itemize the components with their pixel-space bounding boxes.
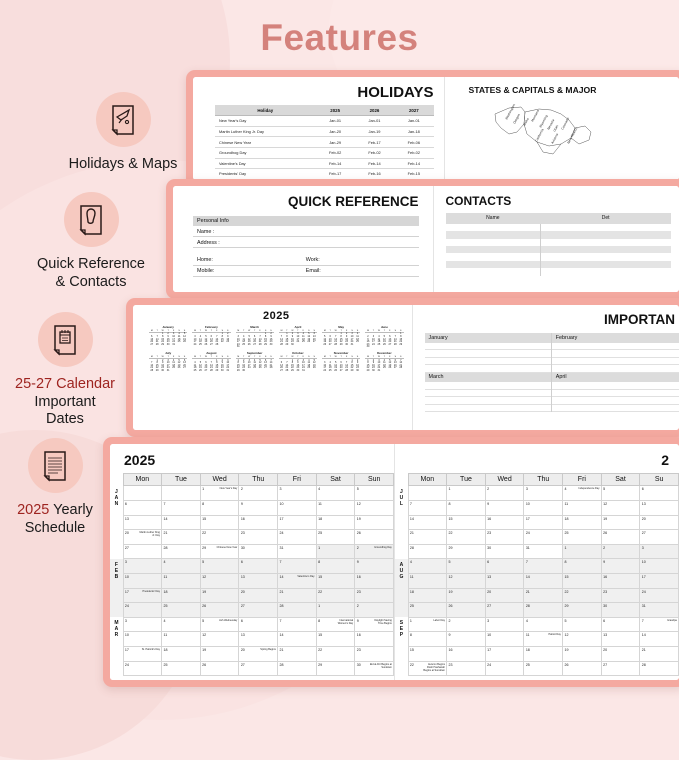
- schedule-day-cell[interactable]: 9Daylight Saving Time Begins: [355, 617, 394, 632]
- day-number: 20: [487, 590, 491, 594]
- schedule-day-cell[interactable]: 4: [316, 486, 355, 501]
- column-header: Sat: [316, 474, 355, 486]
- day-number: 6: [241, 619, 243, 623]
- table-cell: Presidents' Day: [215, 169, 316, 180]
- field-label: Mobile:: [197, 268, 306, 274]
- schedule-day-cell[interactable]: 17: [485, 646, 524, 661]
- schedule-day-cell[interactable]: 2: [239, 486, 278, 501]
- schedule-week-row: 21222324252627: [395, 530, 679, 545]
- schedule-day-cell[interactable]: 8: [563, 559, 602, 574]
- schedule-day-cell[interactable]: 29: [563, 603, 602, 618]
- schedule-day-cell[interactable]: 6: [239, 559, 278, 574]
- schedule-day-cell[interactable]: 20Spring Begins: [239, 646, 278, 661]
- schedule-day-cell[interactable]: 26: [200, 661, 239, 676]
- schedule-day-cell[interactable]: 22: [563, 588, 602, 603]
- table-cell: Jan-29: [316, 137, 355, 148]
- schedule-day-cell[interactable]: 12: [355, 500, 394, 515]
- schedule-day-cell[interactable]: 3: [485, 617, 524, 632]
- schedule-day-cell[interactable]: 15: [200, 515, 239, 530]
- schedule-day-cell[interactable]: 8: [447, 500, 486, 515]
- schedule-day-cell[interactable]: 19: [200, 588, 239, 603]
- schedule-day-cell[interactable]: 13: [601, 632, 640, 647]
- table-row[interactable]: [446, 239, 672, 246]
- schedule-day-cell[interactable]: 20: [640, 515, 679, 530]
- mini-dow-row: MTWTFSS: [322, 356, 360, 359]
- schedule-day-cell[interactable]: 7: [408, 500, 447, 515]
- table-row[interactable]: [446, 231, 672, 238]
- schedule-day-cell[interactable]: 23: [447, 661, 486, 676]
- schedule-day-cell[interactable]: 5: [447, 559, 486, 574]
- schedule-week-row: 25262728293031: [395, 603, 679, 618]
- write-line[interactable]: [425, 343, 551, 351]
- day-number: 17: [279, 517, 283, 521]
- schedule-day-cell[interactable]: 15: [408, 646, 447, 661]
- write-line[interactable]: [552, 343, 679, 351]
- table-cell[interactable]: [446, 231, 541, 238]
- table-row: Valentine's DayFeb-14Feb-14Feb-14: [215, 158, 434, 169]
- write-line[interactable]: [552, 358, 679, 366]
- schedule-day-cell[interactable]: 30: [601, 603, 640, 618]
- schedule-day-cell[interactable]: 3: [123, 617, 162, 632]
- table-cell[interactable]: [446, 261, 541, 268]
- schedule-day-cell[interactable]: 7: [162, 500, 201, 515]
- day-number: 4: [410, 560, 412, 564]
- schedule-day-cell[interactable]: 13: [640, 500, 679, 515]
- table-cell[interactable]: [540, 231, 671, 238]
- schedule-day-cell[interactable]: 1: [447, 486, 486, 501]
- schedule-day-cell[interactable]: 19: [601, 515, 640, 530]
- schedule-day-cell[interactable]: 11Patriot Day: [524, 632, 563, 647]
- day-number: 19: [564, 648, 568, 652]
- day-number: 15: [410, 648, 414, 652]
- schedule-day-cell[interactable]: 16: [601, 573, 640, 588]
- schedule-day-cell[interactable]: 23: [601, 588, 640, 603]
- schedule-day-cell[interactable]: 14: [162, 515, 201, 530]
- quick-reference-row[interactable]: Name :: [193, 226, 419, 237]
- schedule-day-cell[interactable]: 3: [278, 486, 317, 501]
- schedule-day-cell[interactable]: 22: [316, 588, 355, 603]
- schedule-day-cell[interactable]: 19: [563, 646, 602, 661]
- schedule-day-cell[interactable]: 19: [447, 588, 486, 603]
- svg-text:Colorado: Colorado: [560, 117, 570, 131]
- day-number: 16: [487, 517, 491, 521]
- day-number: 21: [410, 531, 414, 535]
- schedule-week-row: 22Autumn Begins Rosh Hashanah Begins at …: [395, 661, 679, 676]
- table-cell: Jan-01: [355, 116, 394, 127]
- day-number: 17: [125, 590, 129, 594]
- schedule-day-cell[interactable]: 28: [162, 544, 201, 559]
- schedule-day-cell[interactable]: 7Grandpa: [640, 617, 679, 632]
- schedule-day-cell[interactable]: 8International Women's Day: [316, 617, 355, 632]
- schedule-day-cell[interactable]: 24: [640, 588, 679, 603]
- schedule-day-cell[interactable]: 27: [239, 603, 278, 618]
- day-number: 3: [279, 487, 281, 491]
- day-number: 14: [164, 517, 168, 521]
- schedule-day-cell[interactable]: 30: [239, 544, 278, 559]
- day-number: 2: [357, 604, 359, 608]
- day-number: 21: [642, 648, 646, 652]
- schedule-day-cell[interactable]: 23: [355, 646, 394, 661]
- schedule-day-cell[interactable]: 2: [485, 486, 524, 501]
- holiday-note: Spring Begins: [260, 648, 276, 651]
- table-cell[interactable]: [446, 239, 541, 246]
- schedule-day-cell[interactable]: 5: [355, 486, 394, 501]
- day-number: 11: [410, 575, 414, 579]
- schedule-day-cell[interactable]: 25: [563, 530, 602, 545]
- month-label: JUL: [395, 486, 408, 559]
- table-cell[interactable]: [446, 224, 541, 231]
- schedule-week-row: 78910111213: [395, 500, 679, 515]
- schedule-day-cell[interactable]: 24: [278, 530, 317, 545]
- schedule-day-cell[interactable]: 16: [485, 515, 524, 530]
- day-number: 6: [642, 487, 644, 491]
- write-line[interactable]: [425, 390, 551, 398]
- schedule-day-cell[interactable]: 29: [316, 661, 355, 676]
- schedule-day-cell[interactable]: 25: [316, 530, 355, 545]
- schedule-day-cell[interactable]: 24: [485, 661, 524, 676]
- quick-reference-row[interactable]: Home:Work:: [193, 254, 419, 265]
- schedule-day-cell[interactable]: 9: [239, 500, 278, 515]
- schedule-day-cell[interactable]: 10: [123, 632, 162, 647]
- schedule-day-cell[interactable]: 6: [640, 486, 679, 501]
- day-number: 18: [410, 590, 414, 594]
- mini-month: DecemberMTWTFSS1234567891011121314151617…: [365, 351, 403, 372]
- schedule-day-cell[interactable]: 2: [601, 544, 640, 559]
- mini-month-name: August: [192, 351, 230, 355]
- schedule-day-cell[interactable]: 24: [123, 603, 162, 618]
- schedule-day-cell[interactable]: 29Chinese New Year: [200, 544, 239, 559]
- quick-reference-row[interactable]: Mobile:Email:: [193, 266, 419, 277]
- schedule-day-cell[interactable]: 12: [447, 573, 486, 588]
- schedule-day-cell[interactable]: 9: [447, 632, 486, 647]
- schedule-day-cell[interactable]: 28: [524, 603, 563, 618]
- schedule-day-cell[interactable]: [162, 486, 201, 501]
- holidays-table: Holiday202520262027 New Year's DayJan-01…: [215, 105, 434, 180]
- schedule-day-cell[interactable]: 22: [447, 530, 486, 545]
- schedule-day-cell[interactable]: 10: [524, 500, 563, 515]
- schedule-day-cell[interactable]: 19: [200, 646, 239, 661]
- schedule-day-cell[interactable]: 14: [278, 632, 317, 647]
- table-cell[interactable]: [540, 224, 671, 231]
- important-dates-month[interactable]: April: [552, 373, 679, 413]
- schedule-day-cell[interactable]: 4: [524, 617, 563, 632]
- schedule-table-right: MonTueWedThuFriSatSu JUL1234Independence…: [395, 473, 679, 676]
- schedule-day-cell[interactable]: 18: [524, 646, 563, 661]
- schedule-day-cell[interactable]: 1: [563, 544, 602, 559]
- schedule-day-cell[interactable]: 8: [316, 559, 355, 574]
- write-line[interactable]: [552, 405, 679, 413]
- schedule-day-cell[interactable]: 18: [162, 588, 201, 603]
- schedule-day-cell[interactable]: 1Labor Day: [408, 617, 447, 632]
- schedule-day-cell[interactable]: 8: [408, 632, 447, 647]
- schedule-day-cell[interactable]: 26: [447, 603, 486, 618]
- schedule-week-row: 891011Patriot Day121314: [395, 632, 679, 647]
- schedule-day-cell[interactable]: 4: [162, 559, 201, 574]
- schedule-day-cell[interactable]: 23: [485, 530, 524, 545]
- schedule-day-cell[interactable]: 4Independence Day: [563, 486, 602, 501]
- table-cell[interactable]: [540, 268, 671, 275]
- schedule-day-cell[interactable]: 5Ash Wednesday: [200, 617, 239, 632]
- schedule-day-cell[interactable]: 11: [162, 573, 201, 588]
- table-cell[interactable]: [540, 246, 671, 253]
- schedule-day-cell[interactable]: 12: [200, 632, 239, 647]
- schedule-day-cell[interactable]: [408, 486, 447, 501]
- schedule-day-cell[interactable]: 20: [485, 588, 524, 603]
- schedule-day-cell[interactable]: 4: [162, 617, 201, 632]
- schedule-day-cell[interactable]: 25: [408, 603, 447, 618]
- schedule-day-cell[interactable]: 3: [640, 544, 679, 559]
- day-number: 19: [357, 517, 361, 521]
- table-cell[interactable]: [540, 253, 671, 260]
- schedule-day-cell[interactable]: 15: [316, 632, 355, 647]
- day-number: 16: [603, 575, 607, 579]
- day-number: 8: [410, 633, 412, 637]
- table-header-row: Holiday202520262027: [215, 105, 434, 116]
- schedule-day-cell[interactable]: 27: [640, 530, 679, 545]
- important-dates-month[interactable]: February: [552, 333, 679, 373]
- table-header-row: MonTueWedThuFriSatSu: [395, 474, 679, 486]
- day-number: 3: [642, 546, 644, 550]
- schedule-day-cell[interactable]: 20: [239, 588, 278, 603]
- schedule-week-row: 17St. Patrick's Day181920Spring Begins21…: [110, 646, 394, 661]
- table-row[interactable]: [446, 268, 672, 275]
- schedule-day-cell[interactable]: 25: [524, 661, 563, 676]
- field-label: [306, 229, 415, 235]
- feature-label: Quick Reference & Contacts: [1, 256, 181, 291]
- month-label: January: [425, 333, 551, 343]
- schedule-day-cell[interactable]: 10: [123, 573, 162, 588]
- mini-month: OctoberMTWTFSS12345678910111213141516171…: [279, 351, 317, 372]
- schedule-day-cell[interactable]: 18: [408, 588, 447, 603]
- schedule-day-cell[interactable]: 2: [447, 617, 486, 632]
- schedule-day-cell[interactable]: 26: [601, 530, 640, 545]
- schedule-day-cell[interactable]: 12: [601, 500, 640, 515]
- write-line[interactable]: [425, 397, 551, 405]
- day-number: 18: [164, 648, 168, 652]
- holiday-note: Ash Wednesday: [219, 619, 237, 622]
- day-number: 3: [125, 560, 127, 564]
- write-line[interactable]: [425, 350, 551, 358]
- day-number: 25: [526, 663, 530, 667]
- schedule-day-cell[interactable]: 6: [239, 617, 278, 632]
- schedule-day-cell[interactable]: 22Autumn Begins Rosh Hashanah Begins at …: [408, 661, 447, 676]
- schedule-day-cell[interactable]: 9: [355, 559, 394, 574]
- schedule-day-cell[interactable]: 30: [485, 544, 524, 559]
- schedule-day-cell[interactable]: 16: [355, 573, 394, 588]
- schedule-day-cell[interactable]: 17: [640, 573, 679, 588]
- schedule-day-cell[interactable]: 21: [278, 646, 317, 661]
- schedule-day-cell[interactable]: 27: [239, 661, 278, 676]
- schedule-day-cell[interactable]: 11: [162, 632, 201, 647]
- write-line[interactable]: [552, 397, 679, 405]
- schedule-day-cell[interactable]: 24: [524, 530, 563, 545]
- schedule-day-cell[interactable]: 14: [408, 515, 447, 530]
- schedule-day-cell[interactable]: 14: [640, 632, 679, 647]
- schedule-day-cell[interactable]: 10: [640, 559, 679, 574]
- schedule-day-cell[interactable]: 15: [447, 515, 486, 530]
- important-dates-month[interactable]: January: [425, 333, 552, 373]
- day-number: 2: [487, 487, 489, 491]
- day-number: 2: [449, 619, 451, 623]
- day-number: 5: [202, 619, 204, 623]
- schedule-day-cell[interactable]: 16: [355, 632, 394, 647]
- schedule-day-cell[interactable]: 13: [239, 632, 278, 647]
- schedule-day-cell[interactable]: 14Valentine's Day: [278, 573, 317, 588]
- schedule-day-cell[interactable]: 17St. Patrick's Day: [123, 646, 162, 661]
- schedule-day-cell[interactable]: 22: [200, 530, 239, 545]
- schedule-day-cell[interactable]: 28: [408, 544, 447, 559]
- schedule-day-cell[interactable]: 22: [316, 646, 355, 661]
- schedule-day-cell[interactable]: 16: [447, 646, 486, 661]
- day-number: 11: [564, 502, 568, 506]
- schedule-day-cell[interactable]: 4: [408, 559, 447, 574]
- schedule-day-cell[interactable]: 23: [355, 588, 394, 603]
- schedule-day-cell[interactable]: 7: [278, 617, 317, 632]
- day-number: 23: [449, 663, 453, 667]
- schedule-day-cell[interactable]: 26: [355, 530, 394, 545]
- schedule-day-cell[interactable]: 28: [640, 661, 679, 676]
- schedule-day-cell[interactable]: 15: [563, 573, 602, 588]
- schedule-day-cell[interactable]: 6: [601, 617, 640, 632]
- schedule-day-cell[interactable]: 27: [485, 603, 524, 618]
- schedule-day-cell[interactable]: 21: [408, 530, 447, 545]
- table-cell: Jan-19: [355, 126, 394, 137]
- write-line[interactable]: [425, 405, 551, 413]
- schedule-day-cell[interactable]: 1New Year's Day: [200, 486, 239, 501]
- schedule-day-cell[interactable]: 26: [200, 603, 239, 618]
- schedule-day-cell[interactable]: 19: [355, 515, 394, 530]
- schedule-day-cell[interactable]: 1: [316, 603, 355, 618]
- schedule-day-cell[interactable]: 17: [524, 515, 563, 530]
- schedule-day-cell[interactable]: 27: [123, 544, 162, 559]
- table-cell[interactable]: [446, 268, 541, 275]
- schedule-day-cell[interactable]: 1: [316, 544, 355, 559]
- schedule-day-cell[interactable]: 29: [447, 544, 486, 559]
- schedule-day-cell[interactable]: 18: [162, 646, 201, 661]
- schedule-day-cell[interactable]: 13: [239, 573, 278, 588]
- table-cell[interactable]: [446, 246, 541, 253]
- schedule-day-cell[interactable]: 24: [123, 661, 162, 676]
- schedule-day-cell[interactable]: 8: [200, 500, 239, 515]
- schedule-day-cell[interactable]: 3: [524, 486, 563, 501]
- schedule-day-cell[interactable]: 11: [316, 500, 355, 515]
- schedule-day-cell[interactable]: 5: [200, 559, 239, 574]
- write-line[interactable]: [552, 390, 679, 398]
- schedule-day-cell[interactable]: 11: [563, 500, 602, 515]
- quick-reference-row[interactable]: Address :: [193, 237, 419, 248]
- schedule-day-cell[interactable]: 21: [640, 646, 679, 661]
- day-number: 8: [449, 502, 451, 506]
- schedule-day-cell[interactable]: 26: [563, 661, 602, 676]
- schedule-day-cell[interactable]: 14: [524, 573, 563, 588]
- column-header: Thu: [239, 474, 278, 486]
- write-line[interactable]: [552, 382, 679, 390]
- day-number: 8: [202, 502, 204, 506]
- table-row: Chinese New YearJan-29Feb-17Feb-06: [215, 137, 434, 148]
- schedule-day-cell[interactable]: 21: [524, 588, 563, 603]
- write-line[interactable]: [552, 365, 679, 373]
- column-header: Name: [446, 213, 541, 224]
- notepad-page-icon: [38, 312, 93, 367]
- schedule-day-cell[interactable]: 13: [485, 573, 524, 588]
- day-number: 24: [279, 531, 283, 535]
- schedule-day-cell[interactable]: 2: [355, 603, 394, 618]
- table-row[interactable]: [446, 253, 672, 260]
- schedule-day-cell[interactable]: 12: [200, 573, 239, 588]
- day-number: 27: [487, 604, 491, 608]
- schedule-day-cell[interactable]: 21: [278, 588, 317, 603]
- day-number: 22: [318, 590, 322, 594]
- holiday-note: International Women's Day: [330, 619, 353, 625]
- schedule-day-cell[interactable]: 6: [485, 559, 524, 574]
- schedule-day-cell[interactable]: 10: [485, 632, 524, 647]
- schedule-day-cell[interactable]: 25: [162, 603, 201, 618]
- schedule-day-cell[interactable]: 28: [278, 603, 317, 618]
- schedule-day-cell[interactable]: 17: [278, 515, 317, 530]
- schedule-day-cell[interactable]: 3: [123, 559, 162, 574]
- schedule-day-cell[interactable]: 7: [524, 559, 563, 574]
- schedule-day-cell[interactable]: 10: [278, 500, 317, 515]
- schedule-day-cell[interactable]: 12: [563, 632, 602, 647]
- schedule-day-cell[interactable]: 30Eid al-Fitr Begins at Sundown: [355, 661, 394, 676]
- write-line[interactable]: [425, 382, 551, 390]
- mini-week-row: 2425262728: [192, 344, 230, 347]
- schedule-week-row: 24252627282930Eid al-Fitr Begins at Sund…: [110, 661, 394, 676]
- day-number: 31: [526, 546, 530, 550]
- schedule-day-cell[interactable]: 9: [601, 559, 640, 574]
- schedule-day-cell[interactable]: 18: [316, 515, 355, 530]
- schedule-day-cell[interactable]: 5: [601, 486, 640, 501]
- schedule-day-cell[interactable]: 17Presidents' Day: [123, 588, 162, 603]
- schedule-day-cell[interactable]: 15: [316, 573, 355, 588]
- schedule-day-cell[interactable]: 5: [563, 617, 602, 632]
- schedule-day-cell[interactable]: 31: [524, 544, 563, 559]
- schedule-day-cell[interactable]: 23: [239, 530, 278, 545]
- day-number: 12: [603, 502, 607, 506]
- month-label: February: [552, 333, 679, 343]
- feature-quick-reference: Quick Reference & Contacts: [1, 192, 181, 291]
- day-number: 10: [279, 502, 283, 506]
- table-cell[interactable]: [446, 253, 541, 260]
- schedule-day-cell[interactable]: 9: [485, 500, 524, 515]
- lined-page-icon: [28, 438, 83, 493]
- schedule-day-cell[interactable]: 21: [162, 530, 201, 545]
- schedule-day-cell[interactable]: 2Groundhog Day: [355, 544, 394, 559]
- write-line[interactable]: [425, 358, 551, 366]
- contacts-table: NameDet: [446, 213, 672, 276]
- schedule-day-cell[interactable]: 7: [278, 559, 317, 574]
- table-cell[interactable]: [540, 261, 671, 268]
- day-number: 23: [241, 531, 245, 535]
- schedule-day-cell[interactable]: 27: [601, 661, 640, 676]
- important-dates-month[interactable]: March: [425, 373, 552, 413]
- schedule-day-cell[interactable]: 25: [162, 661, 201, 676]
- holiday-note: Daylight Saving Time Begins: [368, 619, 391, 625]
- table-row[interactable]: [446, 246, 672, 253]
- write-line[interactable]: [552, 350, 679, 358]
- table-cell[interactable]: [540, 239, 671, 246]
- write-line[interactable]: [425, 365, 551, 373]
- schedule-day-cell[interactable]: 16: [239, 515, 278, 530]
- schedule-day-cell[interactable]: 20: [601, 646, 640, 661]
- schedule-day-cell[interactable]: 31: [278, 544, 317, 559]
- schedule-day-cell[interactable]: 11: [408, 573, 447, 588]
- schedule-day-cell[interactable]: 18: [563, 515, 602, 530]
- table-row[interactable]: [446, 261, 672, 268]
- table-row[interactable]: [446, 224, 672, 231]
- schedule-day-cell[interactable]: 31: [640, 603, 679, 618]
- schedule-day-cell[interactable]: 28: [278, 661, 317, 676]
